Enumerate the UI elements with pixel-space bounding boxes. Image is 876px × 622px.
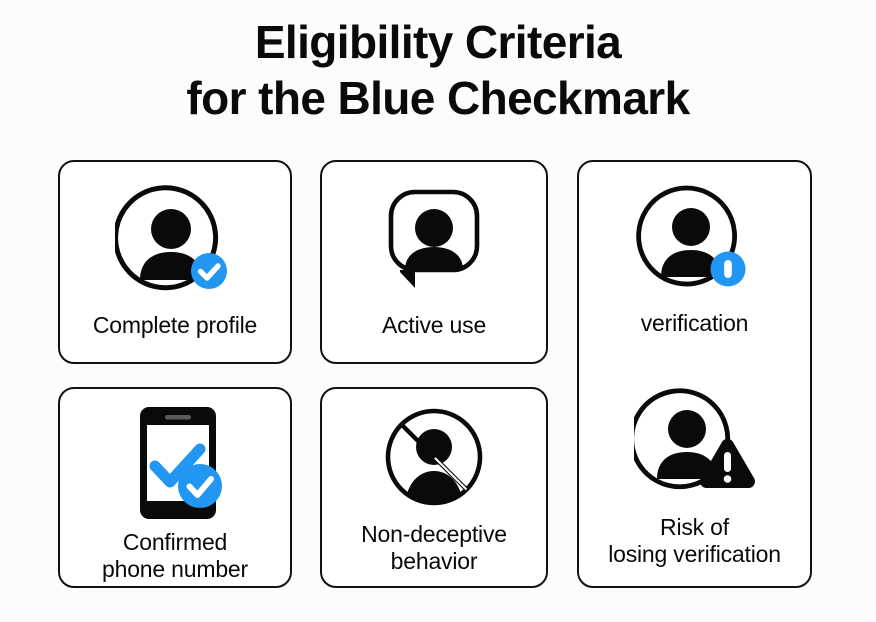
card-complete-profile[interactable]: Complete profile <box>58 160 292 364</box>
phone-with-blue-check-icon <box>120 403 230 521</box>
speech-bubble-avatar-icon <box>374 184 494 300</box>
card-confirmed-phone-number[interactable]: Confirmed phone number <box>58 387 292 588</box>
card-non-deceptive-behavior-label: Non-deceptive behavior <box>361 521 507 575</box>
page-title-line-1: Eligibility Criteria <box>0 14 876 70</box>
avatar-circle-slashed-icon <box>382 405 486 509</box>
card-active-use-label: Active use <box>382 312 486 339</box>
page-title-line-2: for the Blue Checkmark <box>0 70 876 126</box>
page-title: Eligibility Criteria for the Blue Checkm… <box>0 14 876 126</box>
card-active-use[interactable]: Active use <box>320 160 548 364</box>
card-confirmed-phone-number-label: Confirmed phone number <box>102 529 248 583</box>
card-risk-label: Risk of losing verification <box>608 514 781 568</box>
avatar-circle-with-warning-triangle-icon <box>634 384 756 502</box>
card-verification[interactable]: verification Risk of losing verification <box>577 160 812 588</box>
avatar-circle-with-blue-info-badge-icon <box>636 182 754 298</box>
card-verification-label: verification <box>641 310 749 337</box>
card-non-deceptive-behavior[interactable]: Non-deceptive behavior <box>320 387 548 588</box>
avatar-circle-with-blue-check-badge-icon <box>115 182 235 302</box>
card-complete-profile-label: Complete profile <box>93 312 257 339</box>
